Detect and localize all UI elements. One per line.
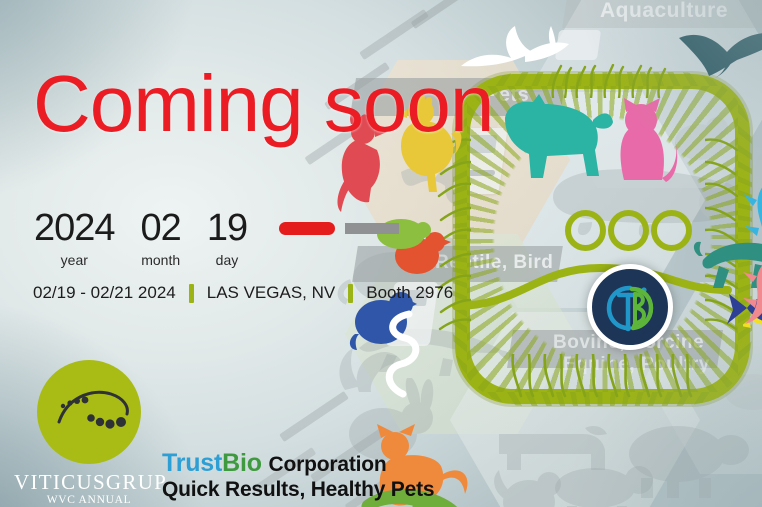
promo-banner: Aquaculture Pets Reptile, Bird Bovine, P…	[0, 0, 762, 507]
date-value-month: 02	[141, 208, 181, 248]
info-separator	[348, 284, 353, 303]
olive-ring-2	[608, 210, 649, 251]
event-booth: Booth 2976	[366, 283, 453, 303]
viticus-subtitle: WVC ANNUAL CONFERENCE	[14, 493, 164, 507]
animal-bird-darkteal	[675, 22, 762, 94]
trustbio-tagline: Quick Results, Healthy Pets	[162, 478, 434, 502]
date-label-day: day	[207, 251, 247, 269]
date-block-year: 2024 year	[34, 208, 115, 269]
viticus-swirl-icon	[37, 360, 141, 464]
ghost-animal-rooster	[485, 462, 575, 507]
animal-dog-teal	[495, 88, 615, 180]
date-value-day: 19	[207, 208, 247, 248]
date-block-day: 19 day	[207, 208, 247, 269]
viticus-name: VITICUSGRUP	[14, 471, 164, 493]
date-value-year: 2024	[34, 208, 115, 248]
info-separator	[189, 284, 194, 303]
date-label-month: month	[141, 251, 181, 269]
decorative-stripe	[359, 9, 429, 60]
olive-ring-1	[565, 210, 606, 251]
trustbio-wordmark: TrustBio Corporation	[162, 450, 434, 478]
date-label-year: year	[34, 251, 115, 269]
date-block-month: 02 month	[141, 208, 181, 269]
trustbio-badge	[587, 264, 673, 350]
accent-bars	[279, 222, 399, 235]
event-info-line: 02/19 - 02/21 2024 LAS VEGAS, NV Booth 2…	[33, 283, 453, 303]
accent-bar-red	[279, 222, 335, 235]
headline-coming-soon: Coming soon	[33, 64, 493, 144]
animal-gecko-pink	[725, 252, 762, 332]
viticus-logo: VITICUSGRUP WVC ANNUAL CONFERENCE	[14, 360, 164, 507]
accent-bar-gray	[345, 223, 399, 234]
trustbio-word-trust: Trust	[162, 449, 222, 477]
decorative-stripe	[459, 0, 522, 1]
animal-cat-pink	[610, 98, 686, 184]
trustbio-logo: TrustBio Corporation Quick Results, Heal…	[162, 450, 434, 502]
event-dates: 02/19 - 02/21 2024	[33, 283, 176, 303]
panel-label-aquaculture: Aquaculture	[600, 0, 728, 23]
olive-ring-3	[651, 210, 692, 251]
trustbio-word-corporation: Corporation	[269, 453, 387, 476]
viticus-logo-mark	[37, 360, 141, 464]
animal-snake-white	[379, 310, 425, 400]
trustbio-monogram-icon	[601, 278, 659, 336]
trustbio-word-bio: Bio	[222, 449, 262, 477]
event-location: LAS VEGAS, NV	[207, 283, 336, 303]
countdown-date: 2024 year 02 month 19 day	[34, 208, 399, 269]
